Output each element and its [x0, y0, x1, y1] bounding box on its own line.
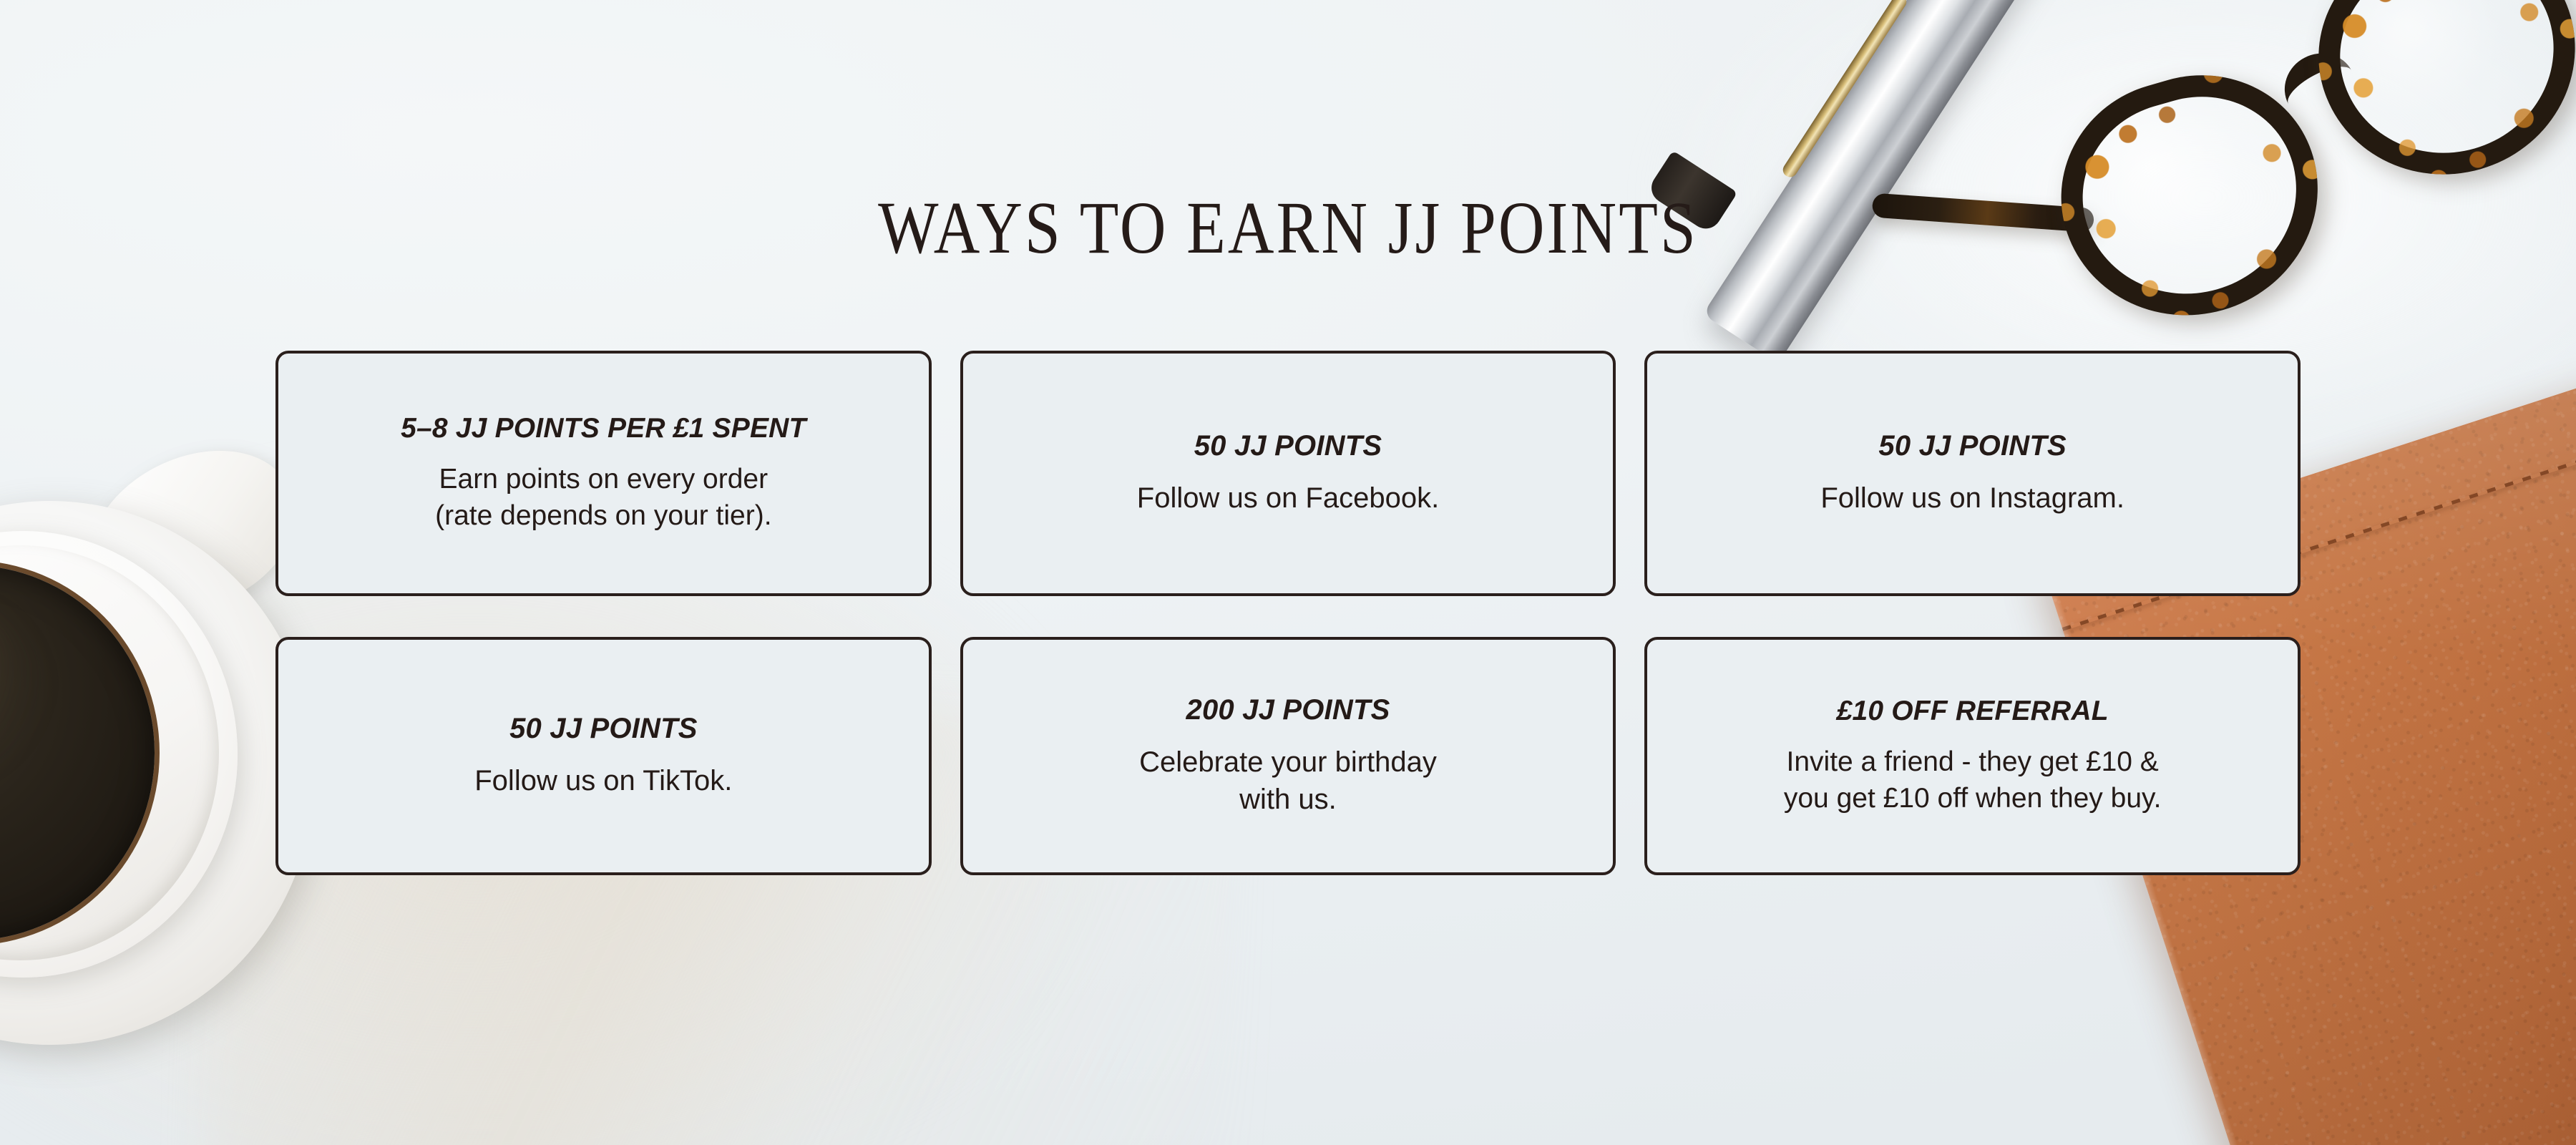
earn-card-heading: £10 OFF REFERRAL [1837, 696, 2109, 727]
earn-card-heading: 200 JJ POINTS [1186, 694, 1390, 727]
earn-card-follow-instagram[interactable]: 50 JJ POINTS Follow us on Instagram. [1644, 351, 2301, 596]
earn-card-heading: 5–8 JJ POINTS PER £1 SPENT [401, 413, 806, 444]
promo-banner: WAYS TO EARN JJ POINTS 5–8 JJ POINTS PER… [0, 0, 2576, 1145]
earn-card-heading: 50 JJ POINTS [1194, 430, 1382, 463]
earn-card-body: Follow us on Facebook. [1137, 479, 1439, 517]
earn-card-body: Follow us on Instagram. [1820, 479, 2124, 517]
earn-card-body: Earn points on every order (rate depends… [435, 462, 771, 534]
earn-card-body: Celebrate your birthday with us. [1139, 744, 1437, 818]
earn-card-body-line: you get £10 off when they buy. [1784, 781, 2162, 817]
earn-card-body-line: Follow us on TikTok. [474, 762, 732, 799]
earn-card-body-line: Follow us on Facebook. [1137, 479, 1439, 517]
earn-card-body-line: Invite a friend - they get £10 & [1784, 744, 2162, 781]
earn-card-body-line: with us. [1139, 781, 1437, 818]
earn-methods-grid: 5–8 JJ POINTS PER £1 SPENT Earn points o… [275, 351, 2301, 875]
earn-card-body-line: Earn points on every order [435, 462, 771, 498]
earn-card-body: Invite a friend - they get £10 & you get… [1784, 744, 2162, 817]
banner-content: WAYS TO EARN JJ POINTS 5–8 JJ POINTS PER… [0, 0, 2576, 1145]
earn-card-referral[interactable]: £10 OFF REFERRAL Invite a friend - they … [1644, 637, 2301, 875]
earn-card-body: Follow us on TikTok. [474, 762, 732, 799]
earn-card-heading: 50 JJ POINTS [509, 713, 698, 746]
earn-card-body-line: Follow us on Instagram. [1820, 479, 2124, 517]
earn-card-heading: 50 JJ POINTS [1878, 430, 2067, 463]
earn-card-body-line: (rate depends on your tier). [435, 498, 771, 535]
earn-card-body-line: Celebrate your birthday [1139, 744, 1437, 781]
earn-card-follow-facebook[interactable]: 50 JJ POINTS Follow us on Facebook. [960, 351, 1616, 596]
earn-card-follow-tiktok[interactable]: 50 JJ POINTS Follow us on TikTok. [275, 637, 932, 875]
earn-card-points-per-pound[interactable]: 5–8 JJ POINTS PER £1 SPENT Earn points o… [275, 351, 932, 596]
earn-card-birthday[interactable]: 200 JJ POINTS Celebrate your birthday wi… [960, 637, 1616, 875]
page-title: WAYS TO EARN JJ POINTS [180, 189, 2396, 267]
